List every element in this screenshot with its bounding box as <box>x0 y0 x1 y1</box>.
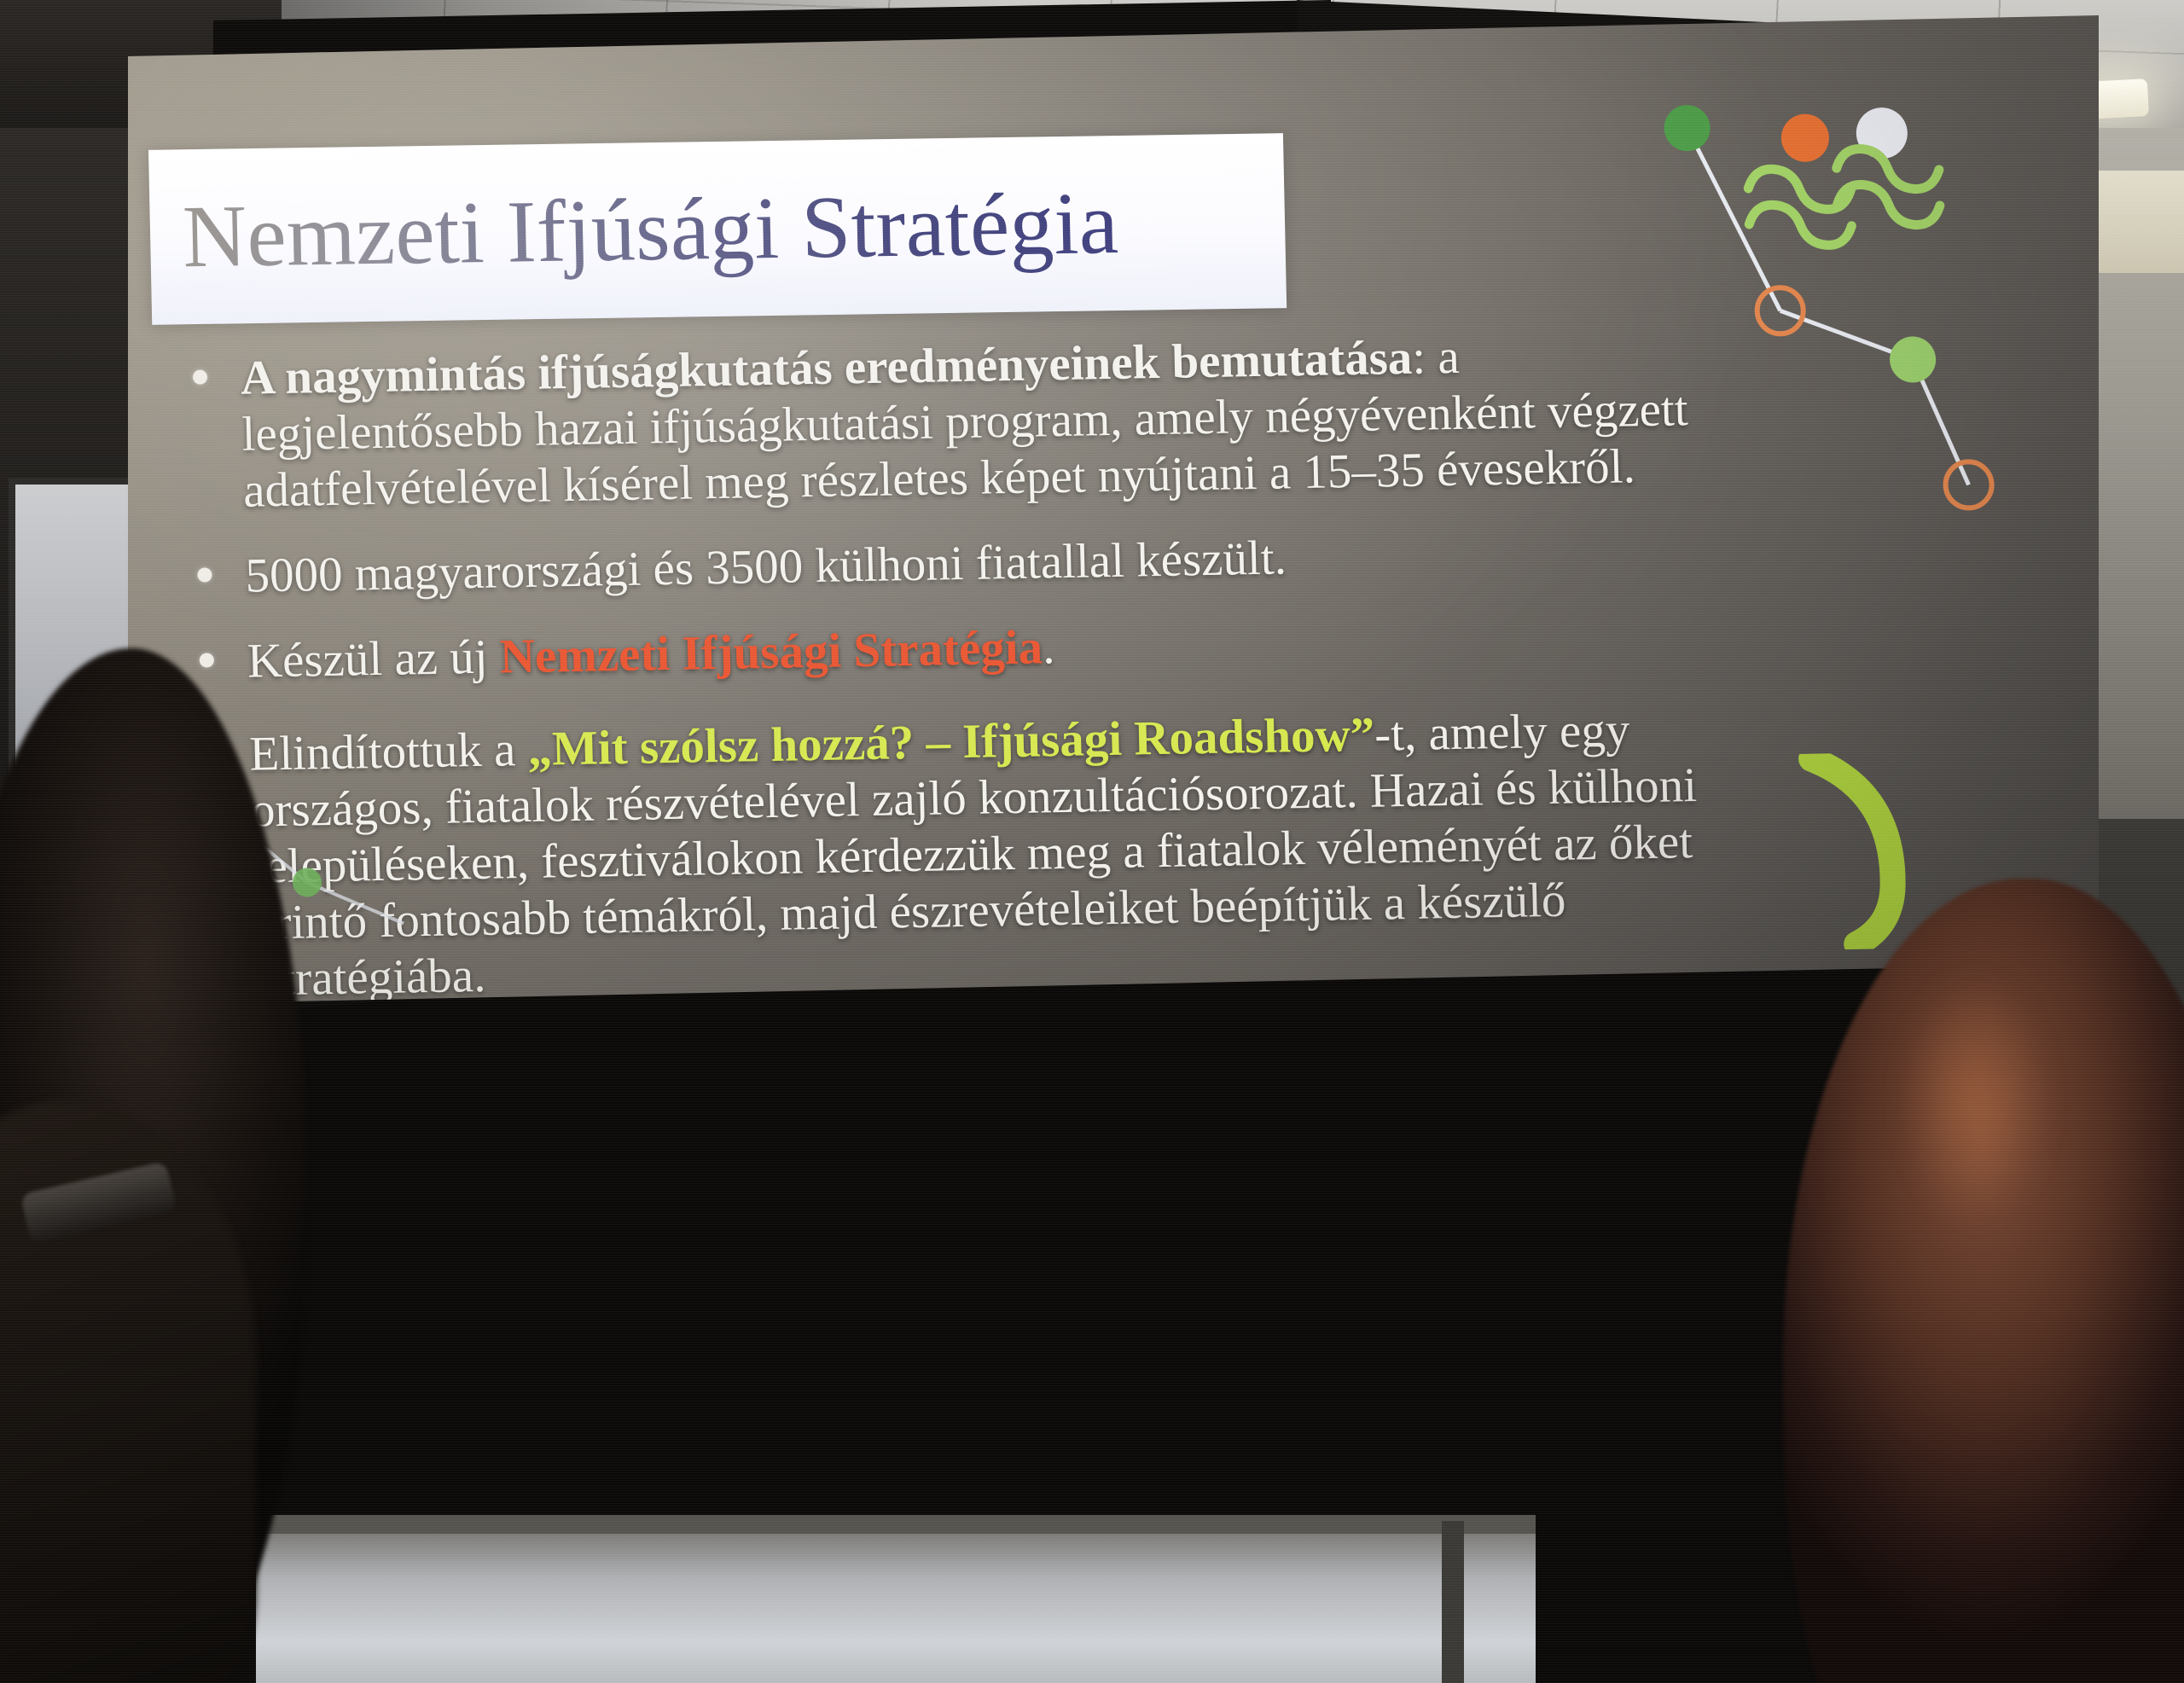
photo-scene: Nemzeti Ifjúsági Stratégia A nagymintás … <box>0 0 2184 1683</box>
list-item: 5000 magyarországi és 3500 külhoni fiata… <box>166 523 1696 606</box>
bottom-window-strip <box>256 1521 1536 1683</box>
bullet-dot-icon <box>200 653 214 668</box>
page-title: Nemzeti Ifjúsági Stratégia <box>148 133 1287 325</box>
bullet-dot-icon <box>193 369 207 384</box>
presentation-slide: Nemzeti Ifjúsági Stratégia A nagymintás … <box>128 15 2099 1005</box>
bullet-2-text: 5000 magyarországi és 3500 külhoni fiata… <box>245 531 1287 603</box>
list-item: A nagymintás ifjúságkutatás eredményeine… <box>161 325 1693 521</box>
bullet-dot-icon <box>197 568 212 583</box>
bottom-window-mullion <box>1442 1521 1464 1683</box>
projection-screen: Nemzeti Ifjúsági Stratégia A nagymintás … <box>128 15 2099 1005</box>
slide-title-band: Nemzeti Ifjúsági Stratégia <box>148 133 1287 325</box>
bullet-3-suffix: . <box>1042 621 1055 675</box>
audience-head-highlight-right <box>1868 955 2082 1314</box>
bottom-window-sill <box>256 1515 1536 1534</box>
bullet-3-accent: Nemzeti Ifjúsági Stratégia <box>499 621 1043 684</box>
